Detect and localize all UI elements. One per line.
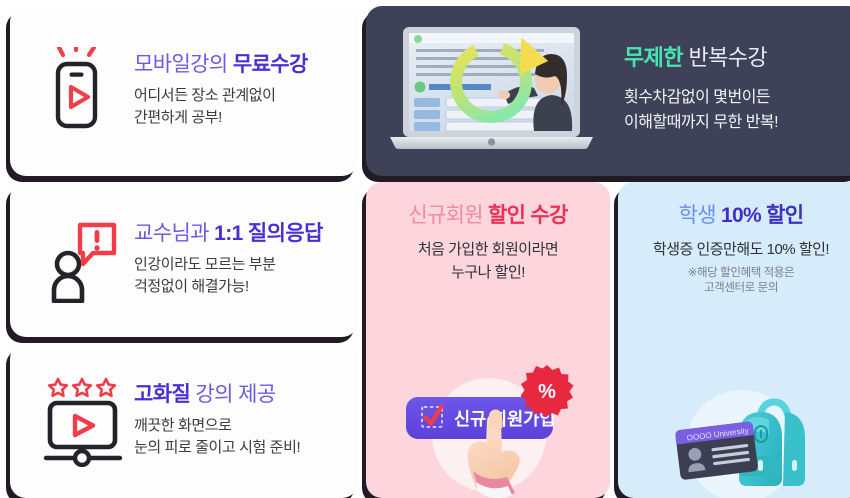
student-id-card-icon: OOOO University [674,421,758,480]
feature-body-line1: 인강이라도 모르는 부분 [134,256,276,273]
monitor-play-icon [38,373,130,469]
mobile-play-icon [38,43,130,139]
feature-body-line2: 걱정없이 해결가능! [134,278,249,295]
feature-title-bold: 무료수강 [233,53,308,76]
feature-body-line2: 간편하게 공부! [134,109,222,126]
promo-artwork: 신규 회원가입 % [366,284,610,498]
feature-body-line2: 눈의 피로 줄이고 시험 준비! [134,439,300,456]
feature-title-bold: 고화질 [134,383,190,406]
feature-text: 모바일강의 무료수강 어디서든 장소 관계없이 간편하게 공부! [130,53,308,129]
feature-text: 교수님과 1:1 질의응답 인강이라도 모르는 부분 걱정없이 해결가능! [130,222,323,298]
promo-card-new-member[interactable]: 신규회원 할인 수강 처음 가입한 회원이라면 누구나 할인! [366,182,610,498]
promo-title-light: 학생 [679,204,716,227]
promo-card-student-discount[interactable]: 학생 10% 할인 학생증 인증만해도 10% 할인! ※해당 할인혜택 적용은… [618,182,850,498]
feature-title-bold: 1:1 질의응답 [214,222,323,245]
feature-title: 교수님과 1:1 질의응답 [134,222,323,245]
repeat-body: 횟수차감없이 몇번이든 이해할때까지 무한 반복! [624,86,778,136]
promo-lead: 학생증 인증만해도 10% 할인! [653,239,829,262]
feature-body: 인강이라도 모르는 부분 걱정없이 해결가능! [134,254,323,298]
repeat-body-line1: 횟수차감없이 몇번이든 [624,89,770,106]
promo-artwork: OOOO University [618,297,850,498]
promo-title: 신규회원 할인 수강 [408,204,567,227]
feature-title: 고화질 강의 제공 [134,383,300,406]
promo-title-bold: 10% 할인 [721,204,803,227]
feature-text: 고화질 강의 제공 깨끗한 화면으로 눈의 피로 줄이고 시험 준비! [130,383,300,459]
feature-title-light: 교수님과 [134,222,209,245]
promo-board: 모바일강의 무료수강 어디서든 장소 관계없이 간편하게 공부! [0,0,850,480]
feature-title-light: 강의 제공 [195,383,275,406]
repeat-course-card[interactable]: 무제한 반복수강 횟수차감없이 몇번이든 이해할때까지 무한 반복! [366,6,850,176]
promo-title: 학생 10% 할인 [679,204,804,227]
feature-body: 깨끗한 화면으로 눈의 피로 줄이고 시험 준비! [134,415,300,459]
feature-card-qna[interactable]: 교수님과 1:1 질의응답 인강이라도 모르는 부분 걱정없이 해결가능! [10,182,358,337]
feature-card-mobile[interactable]: 모바일강의 무료수강 어디서든 장소 관계없이 간편하게 공부! [10,6,358,176]
promo-note-line1: ※해당 할인혜택 적용은 [688,267,794,279]
feature-body-line1: 깨끗한 화면으로 [134,417,232,434]
repeat-text: 무제한 반복수강 횟수차감없이 몇번이든 이해할때까지 무한 반복! [616,46,778,136]
promo-note-line2: 고객센터로 문의 [704,282,778,294]
promo-lead-line1: 처음 가입한 회원이라면 [418,241,558,258]
promo-lead-line1: 학생증 인증만해도 10% 할인! [653,241,829,258]
promo-lead: 처음 가입한 회원이라면 누구나 할인! [418,239,558,284]
promo-title-bold: 할인 수강 [488,204,568,227]
repeat-title: 무제한 반복수강 [624,46,778,70]
promo-lead-line2: 누구나 할인! [451,264,525,281]
repeat-title-light: 반복수강 [688,45,767,70]
feature-body-line1: 어디서든 장소 관계없이 [134,87,276,104]
svg-text:%: % [538,381,556,403]
feature-title-light: 모바일강의 [134,53,228,76]
promo-title-light: 신규회원 [408,204,482,227]
feature-card-quality[interactable]: 고화질 강의 제공 깨끗한 화면으로 눈의 피로 줄이고 시험 준비! [10,343,358,498]
repeat-title-bold: 무제한 [624,45,683,70]
feature-body: 어디서든 장소 관계없이 간편하게 공부! [134,85,308,129]
laptop-lecture-icon [366,16,616,166]
person-question-icon [38,212,130,308]
promo-note: ※해당 할인혜택 적용은 고객센터로 문의 [688,266,794,297]
repeat-body-line2: 이해할때까지 무한 반복! [624,114,778,131]
feature-title: 모바일강의 무료수강 [134,53,308,76]
